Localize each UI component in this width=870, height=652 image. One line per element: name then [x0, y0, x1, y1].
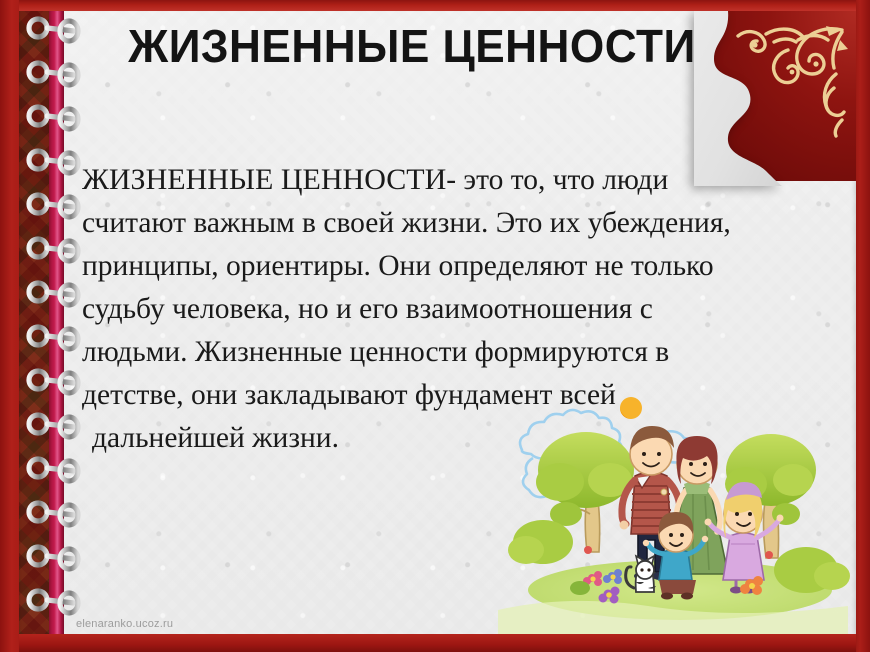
bush-left-icon — [508, 520, 573, 564]
site-watermark: elenaranko.ucoz.ru — [76, 618, 173, 630]
spiral-wire-binding — [24, 8, 82, 640]
body-line-1: считают важным в своей жизни. Это их убе… — [82, 202, 782, 245]
body-line-6: дальнейшей жизни. — [82, 417, 782, 460]
body-line-5: детстве, они закладывают фундамент всей — [82, 374, 782, 417]
spiral-rings-icon — [24, 8, 82, 640]
bush-right-icon — [774, 547, 850, 593]
slide-title: ЖИЗНЕННЫЕ ЦЕННОСТИ — [76, 22, 748, 70]
slide-body-text: ЖИЗНЕННЫЕ ЦЕННОСТИ- это то, что люди счи… — [82, 158, 782, 460]
body-line-0: - это то, что люди — [446, 164, 668, 196]
frame-top-band — [0, 0, 870, 11]
frame-right-band — [856, 0, 870, 652]
body-line-4: людьми. Жизненные ценности формируются в — [82, 331, 782, 374]
body-line-3: судьбу человека, но и его взаимоотношени… — [82, 288, 782, 331]
lead-term: ЖИЗНЕННЫЕ ЦЕННОСТИ — [82, 163, 446, 196]
frame-bottom-band — [0, 634, 870, 652]
presentation-slide: ЖИЗНЕННЫЕ ЦЕННОСТИ ЖИЗНЕННЫЕ ЦЕННОСТИ- э… — [0, 0, 870, 652]
body-line-2: принципы, ориентиры. Они определяют не т… — [82, 245, 782, 288]
frame-left-band — [0, 0, 19, 652]
